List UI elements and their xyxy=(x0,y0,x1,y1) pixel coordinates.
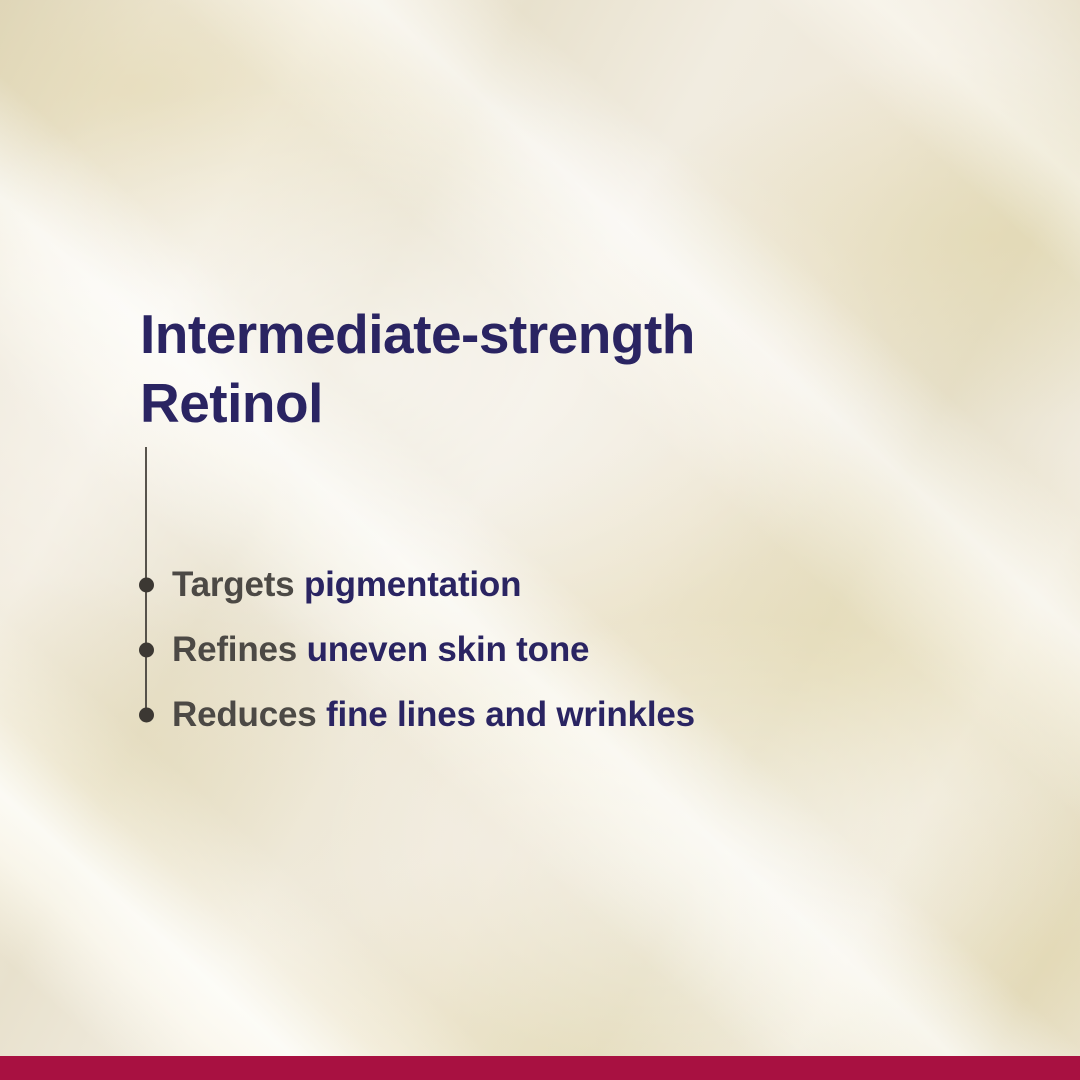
list-item: Refines uneven skin tone xyxy=(140,617,920,682)
bullet-dot-icon xyxy=(139,642,154,657)
bullet-dot-icon xyxy=(139,707,154,722)
benefit-text: Targets pigmentation xyxy=(172,565,521,605)
product-benefit-card: Intermediate-strength Retinol Targets pi… xyxy=(0,0,1080,1080)
page-title: Intermediate-strength Retinol xyxy=(140,300,900,439)
brand-accent-bar xyxy=(0,1056,1080,1080)
benefit-lead: Refines xyxy=(172,630,307,669)
benefits-list: Targets pigmentation Refines uneven skin… xyxy=(140,552,920,747)
benefit-accent: fine lines and wrinkles xyxy=(326,695,695,734)
list-item: Targets pigmentation xyxy=(140,552,920,617)
benefit-lead: Targets xyxy=(172,565,304,604)
heading-block: Intermediate-strength Retinol xyxy=(140,300,900,439)
benefit-lead: Reduces xyxy=(172,695,326,734)
benefit-text: Reduces fine lines and wrinkles xyxy=(172,695,695,735)
benefit-accent: uneven skin tone xyxy=(307,630,590,669)
benefit-accent: pigmentation xyxy=(304,565,521,604)
benefit-text: Refines uneven skin tone xyxy=(172,630,589,670)
list-item: Reduces fine lines and wrinkles xyxy=(140,682,920,747)
bullet-dot-icon xyxy=(139,577,154,592)
background-soft-highlight xyxy=(0,0,1080,1080)
